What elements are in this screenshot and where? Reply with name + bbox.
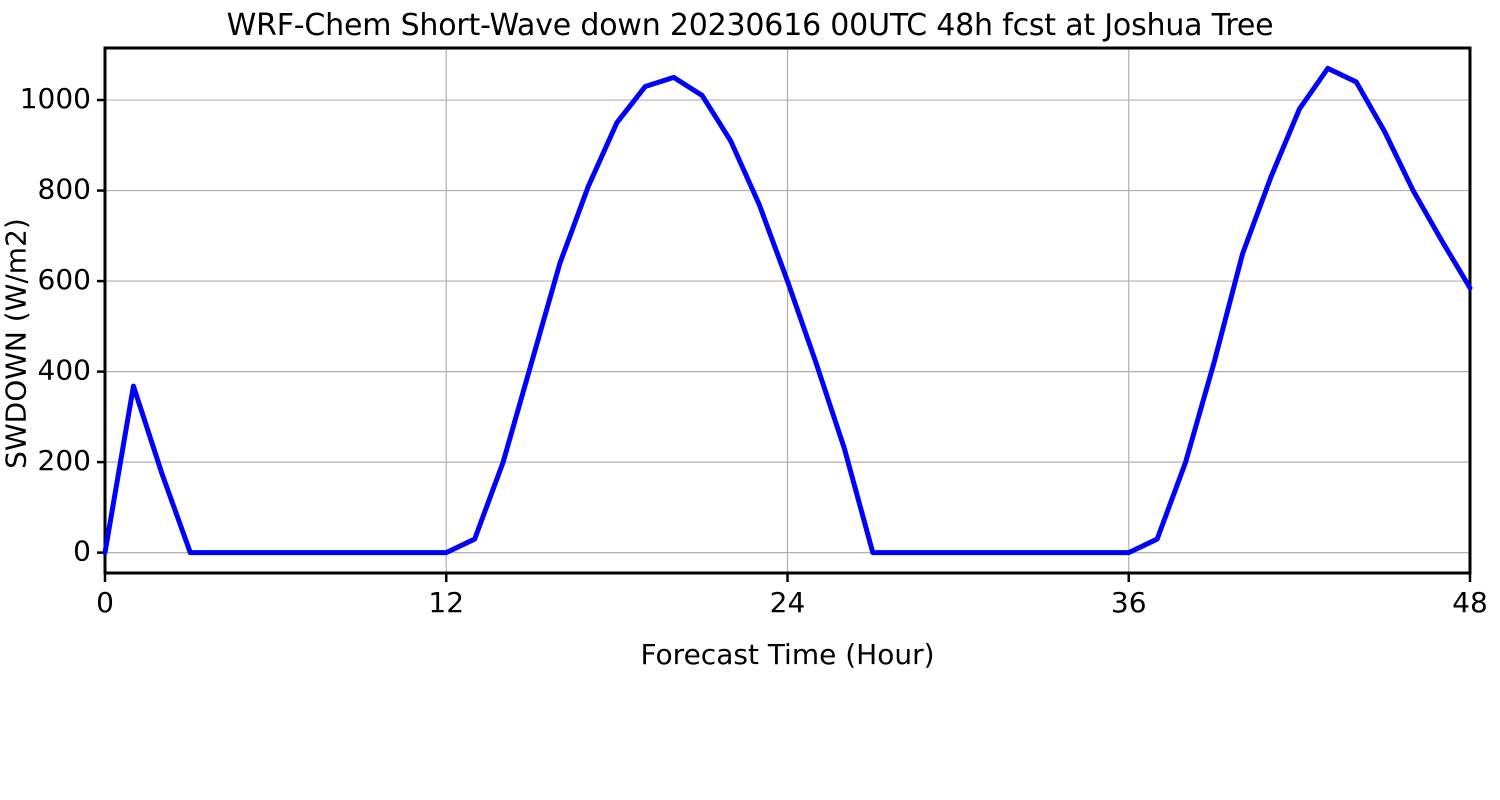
y-tick-label: 800 xyxy=(38,173,91,206)
y-tick-label: 600 xyxy=(38,263,91,296)
x-tick-label: 0 xyxy=(96,586,114,619)
x-gridlines xyxy=(105,48,1470,573)
x-tick-label: 12 xyxy=(428,586,464,619)
y-tick-label: 1000 xyxy=(20,82,91,115)
y-tick-label: 400 xyxy=(38,354,91,387)
x-tick-label: 24 xyxy=(770,586,806,619)
x-tick-label: 48 xyxy=(1452,586,1488,619)
x-tick-label: 36 xyxy=(1111,586,1147,619)
plot-area: 02004006008001000 012243648 xyxy=(0,0,1500,800)
y-tick-labels: 02004006008001000 xyxy=(20,82,91,568)
chart-figure: WRF-Chem Short-Wave down 20230616 00UTC … xyxy=(0,0,1500,800)
x-tick-labels: 012243648 xyxy=(96,586,1488,619)
y-tick-label: 200 xyxy=(38,444,91,477)
y-tick-label: 0 xyxy=(73,535,91,568)
